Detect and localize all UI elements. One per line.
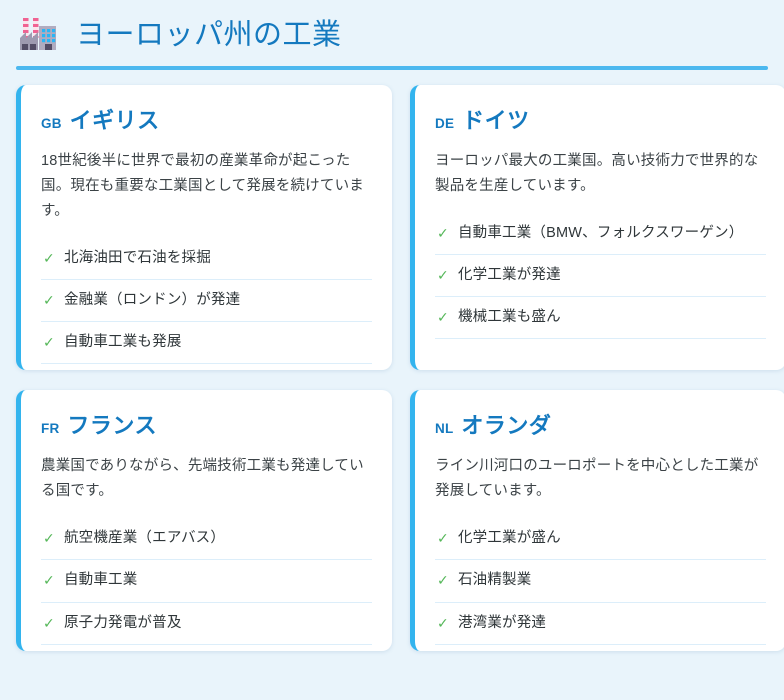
check-icon: ✓ (437, 222, 449, 244)
feature-list: ✓ 航空機産業（エアバス） ✓ 自動車工業 ✓ 原子力発電が普及 (41, 518, 372, 645)
feature-text: 自動車工業 (64, 569, 370, 592)
list-item: ✓ 化学工業が発達 (435, 255, 766, 297)
country-card-nl[interactable]: NL オランダ ライン川河口のユーロポートを中心とした工業が発展しています。 ✓… (410, 390, 784, 650)
country-code-badge: FR (41, 421, 59, 436)
country-description: ヨーロッパ最大の工業国。高い技術力で世界的な製品を生産しています。 (435, 149, 766, 199)
feature-text: 自動車工業も発展 (64, 331, 370, 354)
feature-list: ✓ 自動車工業（BMW、フォルクスワーゲン） ✓ 化学工業が発達 ✓ 機械工業も… (435, 213, 766, 340)
check-icon: ✓ (437, 527, 449, 549)
list-item: ✓ 自動車工業も発展 (41, 322, 372, 364)
check-icon: ✓ (43, 331, 55, 353)
list-item: ✓ 自動車工業（BMW、フォルクスワーゲン） (435, 213, 766, 255)
card-heading: FR フランス (41, 408, 372, 440)
country-description: ライン川河口のユーロポートを中心とした工業が発展しています。 (435, 454, 766, 504)
feature-text: 機械工業も盛ん (458, 306, 764, 329)
country-code-badge: NL (435, 421, 453, 436)
feature-text: 金融業（ロンドン）が発達 (64, 289, 370, 312)
card-heading: GB イギリス (41, 103, 372, 135)
country-name: オランダ (461, 408, 551, 440)
country-code-badge: GB (41, 116, 62, 131)
card-heading: NL オランダ (435, 408, 766, 440)
country-name: ドイツ (462, 103, 530, 135)
country-name: イギリス (70, 103, 160, 135)
list-item: ✓ 航空機産業（エアバス） (41, 518, 372, 560)
country-card-de[interactable]: DE ドイツ ヨーロッパ最大の工業国。高い技術力で世界的な製品を生産しています。… (410, 85, 784, 370)
feature-text: 自動車工業（BMW、フォルクスワーゲン） (458, 222, 764, 245)
list-item: ✓ 港湾業が発達 (435, 603, 766, 645)
country-name: フランス (67, 408, 157, 440)
factory-icon (16, 12, 62, 58)
feature-text: 化学工業が発達 (458, 264, 764, 287)
feature-text: 航空機産業（エアバス） (64, 527, 370, 550)
check-icon: ✓ (43, 527, 55, 549)
list-item: ✓ 金融業（ロンドン）が発達 (41, 280, 372, 322)
country-code-badge: DE (435, 116, 454, 131)
country-description: 18世紀後半に世界で最初の産業革命が起こった国。現在も重要な工業国として発展を続… (41, 149, 372, 224)
card-heading: DE ドイツ (435, 103, 766, 135)
feature-text: 港湾業が発達 (458, 612, 764, 635)
country-description: 農業国でありながら、先端技術工業も発達している国です。 (41, 454, 372, 504)
page-header: ヨーロッパ州の工業 (0, 0, 784, 58)
feature-text: 化学工業が盛ん (458, 527, 764, 550)
feature-text: 石油精製業 (458, 569, 764, 592)
check-icon: ✓ (43, 289, 55, 311)
check-icon: ✓ (437, 569, 449, 591)
list-item: ✓ 自動車工業 (41, 560, 372, 602)
feature-list: ✓ 化学工業が盛ん ✓ 石油精製業 ✓ 港湾業が発達 (435, 518, 766, 645)
feature-text: 原子力発電が普及 (64, 612, 370, 635)
country-card-gb[interactable]: GB イギリス 18世紀後半に世界で最初の産業革命が起こった国。現在も重要な工業… (16, 85, 392, 370)
check-icon: ✓ (43, 569, 55, 591)
check-icon: ✓ (43, 247, 55, 269)
check-icon: ✓ (437, 306, 449, 328)
feature-list: ✓ 北海油田で石油を採掘 ✓ 金融業（ロンドン）が発達 ✓ 自動車工業も発展 (41, 238, 372, 365)
check-icon: ✓ (437, 264, 449, 286)
page-title: ヨーロッパ州の工業 (76, 21, 342, 50)
list-item: ✓ 原子力発電が普及 (41, 603, 372, 645)
list-item: ✓ 北海油田で石油を採掘 (41, 238, 372, 280)
check-icon: ✓ (437, 612, 449, 634)
country-card-grid: GB イギリス 18世紀後半に世界で最初の産業革命が起こった国。現在も重要な工業… (0, 70, 784, 651)
list-item: ✓ 化学工業が盛ん (435, 518, 766, 560)
list-item: ✓ 機械工業も盛ん (435, 297, 766, 339)
check-icon: ✓ (43, 612, 55, 634)
feature-text: 北海油田で石油を採掘 (64, 247, 370, 270)
list-item: ✓ 石油精製業 (435, 560, 766, 602)
country-card-fr[interactable]: FR フランス 農業国でありながら、先端技術工業も発達している国です。 ✓ 航空… (16, 390, 392, 650)
